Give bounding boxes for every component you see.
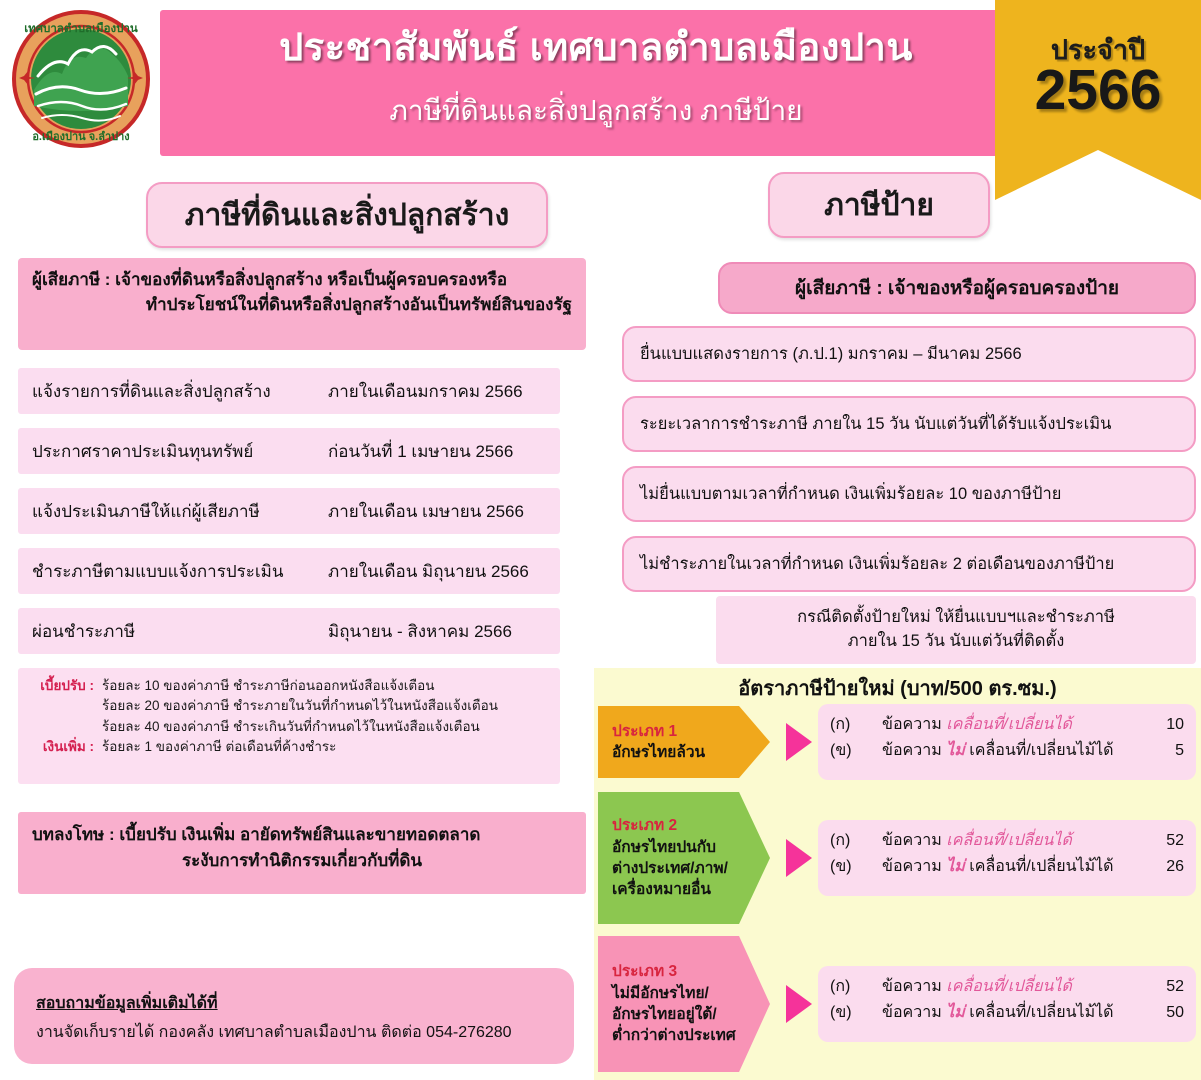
svg-text:อ.เมืองปาน จ.ลำปาง: อ.เมืองปาน จ.ลำปาง: [32, 130, 129, 143]
rate-category-chevron-3: ประเภท 3 ไม่มีอักษรไทย/ อักษรไทยอยู่ใต้/…: [598, 936, 770, 1072]
penalty-surcharge-text: ร้อยละ 1 ของค่าภาษี ต่อเดือนที่ค้างชำระ: [102, 737, 336, 757]
play-arrow-icon-3: [786, 985, 812, 1023]
rate-item-text: ข้อความ ไม่ เคลื่อนที่/เปลี่ยนไม้ได้: [882, 738, 1150, 764]
rate-item-text: ข้อความ เคลื่อนที่/เปลี่ยนได้: [882, 828, 1150, 854]
sign-rule-row: ไม่ชำระภายในเวลาที่กำหนด เงินเพิ่มร้อยละ…: [622, 536, 1196, 592]
rate-category-desc: ไม่มีอักษรไทย/: [612, 983, 770, 1004]
punishment-line1: บทลงโทษ : เบี้ยปรับ เงินเพิ่ม อายัดทรัพย…: [32, 822, 572, 848]
land-schedule-row: แจ้งรายการที่ดินและสิ่งปลูกสร้าง ภายในเด…: [18, 368, 560, 414]
rate-value-row: (ก) ข้อความ เคลื่อนที่/เปลี่ยนได้ 52: [830, 828, 1184, 854]
rate-item-key: (ก): [830, 828, 882, 854]
rate-item-text: ข้อความ ไม่ เคลื่อนที่/เปลี่ยนไม้ได้: [882, 854, 1150, 880]
rate-value-row: (ข) ข้อความ ไม่ เคลื่อนที่/เปลี่ยนไม้ได้…: [830, 854, 1184, 880]
rate-item-key: (ข): [830, 738, 882, 764]
penalty-fine-text-1: ร้อยละ 10 ของค่าภาษี ชำระภาษีก่อนออกหนัง…: [102, 676, 435, 696]
rate-values-box-1: (ก) ข้อความ เคลื่อนที่/เปลี่ยนได้ 10 (ข)…: [818, 704, 1196, 780]
land-taxpayer-box: ผู้เสียภาษี : เจ้าของที่ดินหรือสิ่งปลูกส…: [18, 258, 586, 350]
land-schedule-row: ชำระภาษีตามแบบแจ้งการประเมิน ภายในเดือน …: [18, 548, 560, 594]
municipal-seal-icon: เทศบาลตำบลเมืองปาน อ.เมืองปาน จ.ลำปาง: [8, 6, 154, 152]
ribbon-tail-icon: [995, 150, 1201, 200]
rate-item-key: (ก): [830, 974, 882, 1000]
rate-item-key: (ก): [830, 712, 882, 738]
schedule-name: แจ้งประเมินภาษีให้แก่ผู้เสียภาษี: [32, 498, 260, 525]
rate-value-row: (ข) ข้อความ ไม่ เคลื่อนที่/เปลี่ยนไม้ได้…: [830, 1000, 1184, 1026]
rate-category-desc: อักษรไทยปนกับ: [612, 837, 770, 858]
land-schedule-row: ผ่อนชำระภาษี มิถุนายน - สิงหาคม 2566: [18, 608, 560, 654]
schedule-name: ผ่อนชำระภาษี: [32, 618, 135, 645]
land-taxpayer-line2: ทำประโยชน์ในที่ดินหรือสิ่งปลูกสร้างอันเป…: [32, 293, 572, 318]
rate-category-desc: ต่างประเทศ/ภาพ/: [612, 858, 770, 879]
sign-rule-row: ยื่นแบบแสดงรายการ (ภ.ป.1) มกราคม – มีนาค…: [622, 326, 1196, 382]
new-sign-notice-box: กรณีติดตั้งป้ายใหม่ ให้ยื่นแบบฯและชำระภา…: [716, 596, 1196, 664]
rate-category-desc: ต่ำกว่าต่างประเทศ: [612, 1025, 770, 1046]
penalty-fine-label: เบี้ยปรับ :: [28, 676, 102, 696]
rate-category-chevron-2: ประเภท 2 อักษรไทยปนกับ ต่างประเทศ/ภาพ/ เ…: [598, 792, 770, 924]
play-arrow-icon-1: [786, 723, 812, 761]
rate-item-key: (ข): [830, 854, 882, 880]
penalty-box: เบี้ยปรับ : ร้อยละ 10 ของค่าภาษี ชำระภาษ…: [18, 668, 560, 784]
sign-tax-title: ภาษีป้าย: [768, 172, 990, 238]
penalty-fine-text-2: ร้อยละ 20 ของค่าภาษี ชำระภายในวันที่กำหน…: [102, 696, 550, 716]
rate-category-label: ประเภท 2: [612, 815, 770, 836]
rate-item-text: ข้อความ เคลื่อนที่/เปลี่ยนได้: [882, 974, 1150, 1000]
land-schedule-row: แจ้งประเมินภาษีให้แก่ผู้เสียภาษี ภายในเด…: [18, 488, 560, 534]
schedule-name: ชำระภาษีตามแบบแจ้งการประเมิน: [32, 558, 284, 585]
schedule-date: ภายในเดือนมกราคม 2566: [328, 378, 523, 405]
rate-item-text: ข้อความ เคลื่อนที่/เปลี่ยนได้: [882, 712, 1150, 738]
schedule-name: แจ้งรายการที่ดินและสิ่งปลูกสร้าง: [32, 378, 271, 405]
rate-category-chevron-1: ประเภท 1 อักษรไทยล้วน: [598, 706, 770, 778]
rate-value-row: (ก) ข้อความ เคลื่อนที่/เปลี่ยนได้ 10: [830, 712, 1184, 738]
sign-rule-row: ระยะเวลาการชำระภาษี ภายใน 15 วัน นับแต่ว…: [622, 396, 1196, 452]
rate-item-value: 52: [1150, 828, 1184, 854]
notice-line1: กรณีติดตั้งป้ายใหม่ ให้ยื่นแบบฯและชำระภา…: [797, 606, 1115, 630]
rate-item-value: 26: [1150, 854, 1184, 880]
contact-body: งานจัดเก็บรายได้ กองคลัง เทศบาลตำบลเมือง…: [36, 1019, 552, 1048]
schedule-date: ภายในเดือน มิถุนายน 2566: [328, 558, 529, 585]
rate-item-value: 52: [1150, 974, 1184, 1000]
rate-category-desc: อักษรไทยอยู่ใต้/: [612, 1004, 770, 1025]
penalty-surcharge-row: เงินเพิ่ม : ร้อยละ 1 ของค่าภาษี ต่อเดือน…: [28, 737, 550, 757]
penalty-fine-row: เบี้ยปรับ : ร้อยละ 10 ของค่าภาษี ชำระภาษ…: [28, 676, 550, 696]
punishment-box: บทลงโทษ : เบี้ยปรับ เงินเพิ่ม อายัดทรัพย…: [18, 812, 586, 894]
ribbon-year: 2566: [995, 62, 1201, 119]
schedule-date: ก่อนวันที่ 1 เมษายน 2566: [328, 438, 513, 465]
rate-values-box-3: (ก) ข้อความ เคลื่อนที่/เปลี่ยนได้ 52 (ข)…: [818, 966, 1196, 1042]
page-subtitle: ภาษีที่ดินและสิ่งปลูกสร้าง ภาษีป้าย: [190, 96, 1002, 127]
page-title: ประชาสัมพันธ์ เทศบาลตำบลเมืองปาน: [190, 28, 1002, 70]
schedule-name: ประกาศราคาประเมินทุนทรัพย์: [32, 438, 253, 465]
contact-box: สอบถามข้อมูลเพิ่มเติมได้ที่ งานจัดเก็บรา…: [14, 968, 574, 1064]
rate-category-label: ประเภท 1: [612, 721, 770, 742]
play-arrow-icon-2: [786, 839, 812, 877]
land-tax-title: ภาษีที่ดินและสิ่งปลูกสร้าง: [146, 182, 548, 248]
punishment-line2: ระงับการทำนิติกรรมเกี่ยวกับที่ดิน: [32, 848, 572, 874]
year-ribbon: ประจำปี 2566: [995, 0, 1201, 200]
land-schedule-row: ประกาศราคาประเมินทุนทรัพย์ ก่อนวันที่ 1 …: [18, 428, 560, 474]
rate-value-row: (ข) ข้อความ ไม่ เคลื่อนที่/เปลี่ยนไม้ได้…: [830, 738, 1184, 764]
rate-value-row: (ก) ข้อความ เคลื่อนที่/เปลี่ยนได้ 52: [830, 974, 1184, 1000]
sign-rule-row: ไม่ยื่นแบบตามเวลาที่กำหนด เงินเพิ่มร้อยล…: [622, 466, 1196, 522]
rate-item-value: 50: [1150, 1000, 1184, 1026]
penalty-fine-text-3: ร้อยละ 40 ของค่าภาษี ชำระเกินวันที่กำหนด…: [102, 717, 550, 737]
rate-category-desc: เครื่องหมายอื่น: [612, 879, 770, 900]
notice-line2: ภายใน 15 วัน นับแต่วันที่ติดตั้ง: [848, 630, 1065, 654]
rate-category-label: ประเภท 3: [612, 961, 770, 982]
rate-item-text: ข้อความ ไม่ เคลื่อนที่/เปลี่ยนไม้ได้: [882, 1000, 1150, 1026]
rate-table-title: อัตราภาษีป้ายใหม่ (บาท/500 ตร.ซม.): [594, 672, 1201, 704]
svg-text:เทศบาลตำบลเมืองปาน: เทศบาลตำบลเมืองปาน: [24, 21, 138, 35]
schedule-date: มิถุนายน - สิงหาคม 2566: [328, 618, 512, 645]
rate-category-desc: อักษรไทยล้วน: [612, 742, 770, 763]
land-taxpayer-line1: ผู้เสียภาษี : เจ้าของที่ดินหรือสิ่งปลูกส…: [32, 268, 572, 293]
rate-item-key: (ข): [830, 1000, 882, 1026]
sign-taxpayer-box: ผู้เสียภาษี : เจ้าของหรือผู้ครอบครองป้าย: [718, 262, 1196, 314]
penalty-surcharge-label: เงินเพิ่ม :: [28, 737, 102, 757]
rate-item-value: 5: [1150, 738, 1184, 764]
contact-heading: สอบถามข้อมูลเพิ่มเติมได้ที่: [36, 990, 552, 1019]
rate-item-value: 10: [1150, 712, 1184, 738]
rate-values-box-2: (ก) ข้อความ เคลื่อนที่/เปลี่ยนได้ 52 (ข)…: [818, 820, 1196, 896]
infographic-page: เทศบาลตำบลเมืองปาน อ.เมืองปาน จ.ลำปาง ปร…: [0, 0, 1201, 1080]
schedule-date: ภายในเดือน เมษายน 2566: [328, 498, 524, 525]
